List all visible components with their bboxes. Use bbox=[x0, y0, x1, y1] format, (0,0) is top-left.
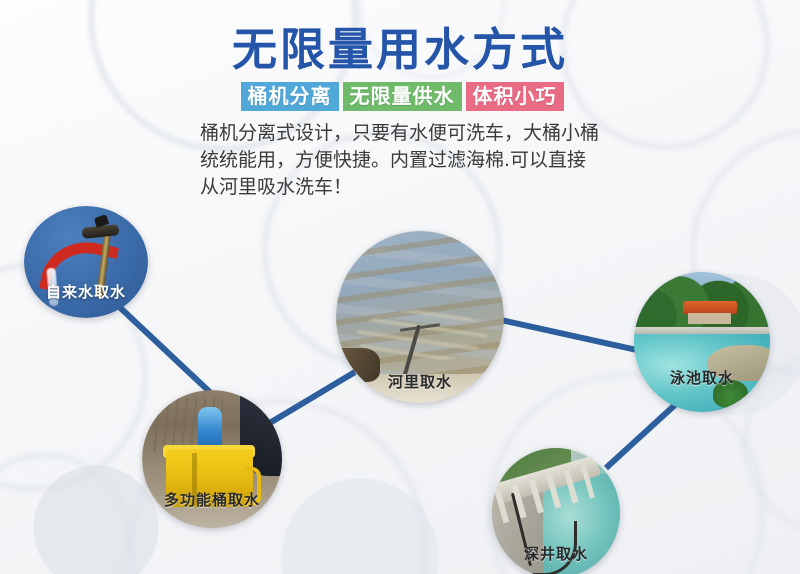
connector-river-to-pool bbox=[492, 318, 646, 352]
connector-tap-to-bucket bbox=[112, 300, 213, 395]
node-caption: 河里取水 bbox=[336, 373, 504, 392]
photo-swimming-pool-icon bbox=[634, 272, 770, 412]
connector-pool-to-well bbox=[606, 404, 676, 468]
node-pool-water[interactable]: 泳池取水 bbox=[634, 272, 770, 412]
poster-root: 无限量用水方式 桶机分离 无限量供水 体积小巧 桶机分离式设计，只要有水便可洗车… bbox=[0, 0, 800, 574]
node-tap-water[interactable]: 自来水取水 bbox=[24, 206, 148, 318]
node-caption: 泳池取水 bbox=[634, 369, 770, 388]
node-caption: 多功能桶取水 bbox=[142, 491, 282, 510]
node-well-water[interactable]: 深井取水 bbox=[492, 448, 620, 574]
node-bucket-water[interactable]: 多功能桶取水 bbox=[142, 390, 282, 528]
node-caption: 自来水取水 bbox=[24, 283, 148, 302]
node-caption: 深井取水 bbox=[492, 545, 620, 564]
node-river-water[interactable]: 河里取水 bbox=[336, 231, 504, 403]
